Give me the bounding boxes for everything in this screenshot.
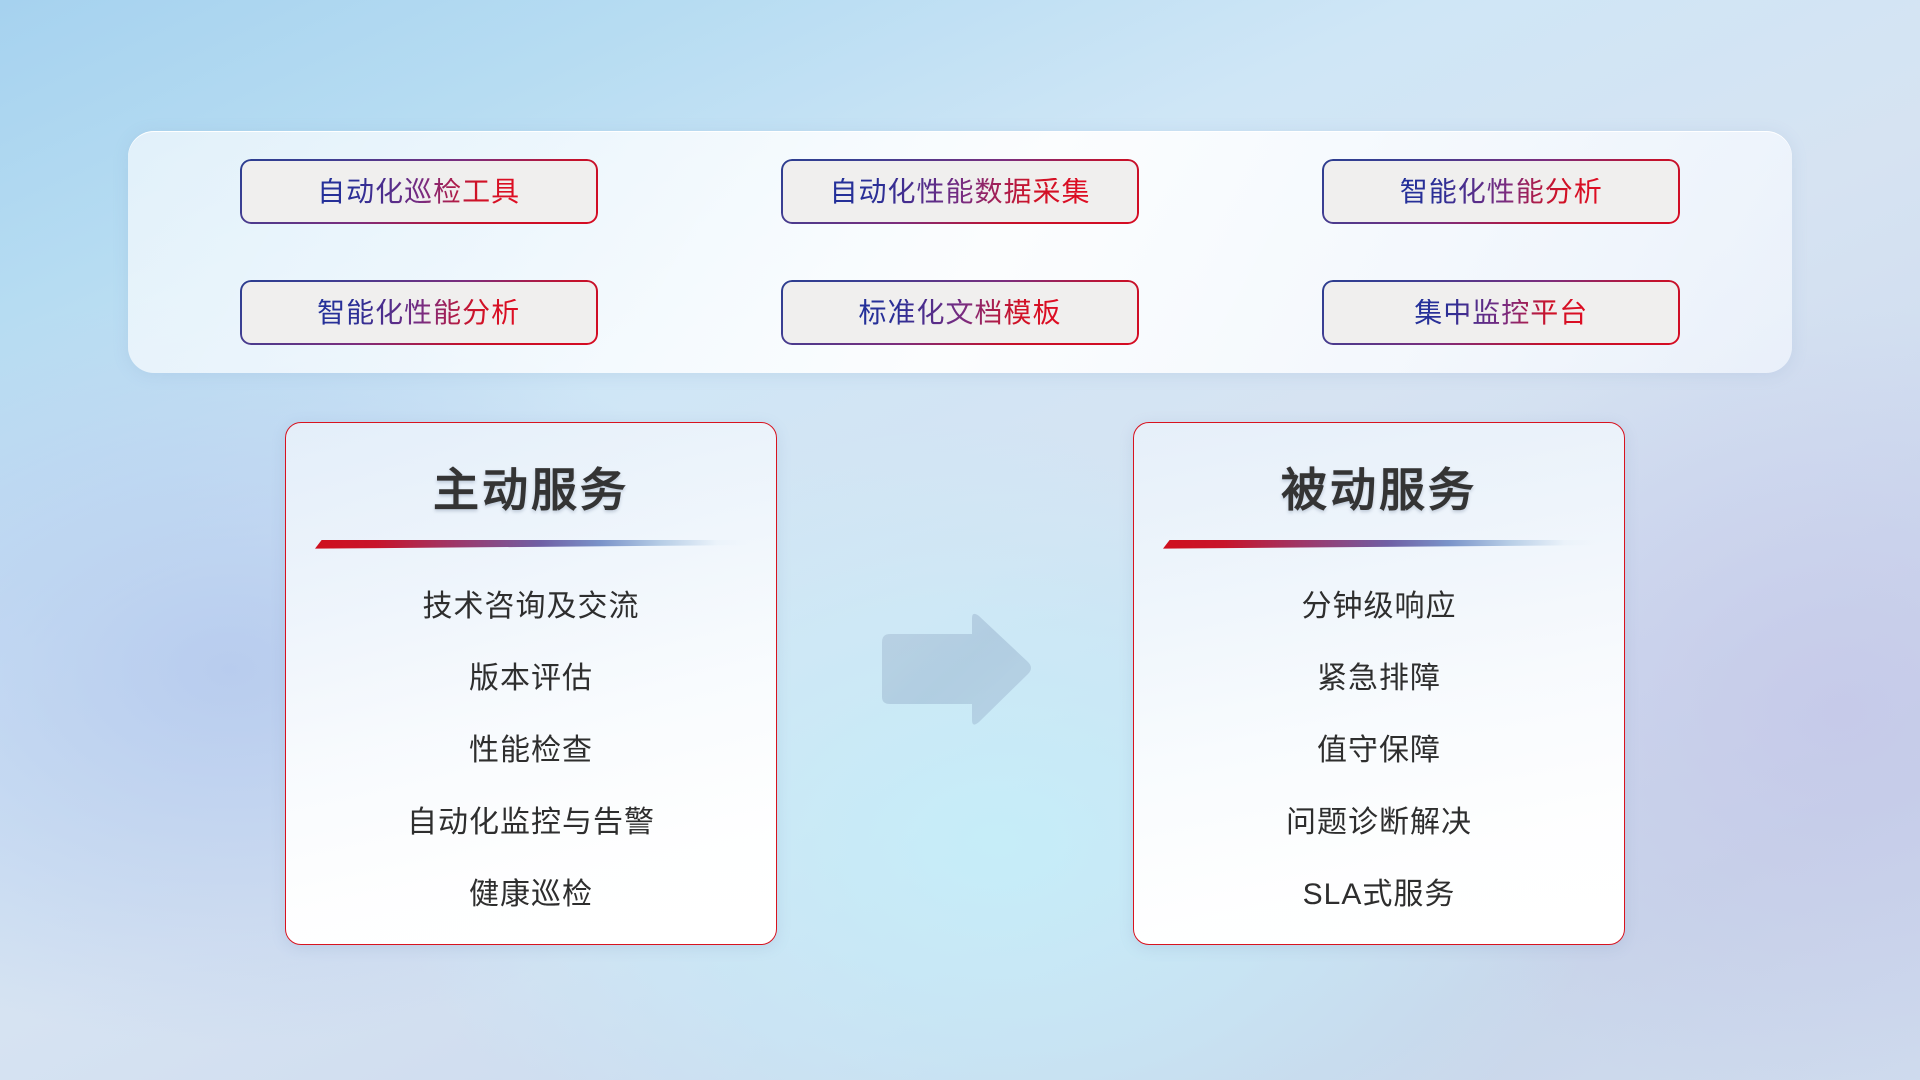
flow-arrow-right-icon [876, 611, 1034, 729]
service-card-proactive: 主动服务 技术咨询及交流 版本评估 性能检查 自动化监控与告警 健康巡检 [285, 422, 777, 945]
capability-pill[interactable]: 智能化性能分析 [240, 280, 598, 345]
title-divider-bar [315, 540, 747, 549]
service-list-item: 值守保障 [1134, 715, 1624, 787]
title-divider-bar [1163, 540, 1595, 549]
service-list-item: 技术咨询及交流 [286, 571, 776, 643]
slide-canvas: 自动化巡检工具 自动化性能数据采集 智能化性能分析 智能化性能分析 标准化文档模… [0, 0, 1920, 1080]
capability-pill-label: 自动化巡检工具 [317, 178, 520, 206]
service-list-item: 分钟级响应 [1134, 571, 1624, 643]
capability-pill[interactable]: 标准化文档模板 [781, 280, 1139, 345]
service-card-title: 主动服务 [286, 465, 776, 516]
capability-pill-label: 集中监控平台 [1414, 299, 1588, 327]
service-item-list: 分钟级响应 紧急排障 值守保障 问题诊断解决 SLA式服务 [1134, 571, 1624, 931]
service-list-item: 版本评估 [286, 643, 776, 715]
service-list-item: 健康巡检 [286, 859, 776, 931]
capability-pill-label: 智能化性能分析 [1400, 178, 1603, 206]
service-list-item: 自动化监控与告警 [286, 787, 776, 859]
service-list-item: SLA式服务 [1134, 859, 1624, 931]
service-card-title: 被动服务 [1134, 465, 1624, 516]
service-list-item: 性能检查 [286, 715, 776, 787]
service-card-reactive: 被动服务 分钟级响应 紧急排障 值守保障 问题诊断解决 SLA式服务 [1133, 422, 1625, 945]
service-list-item: 问题诊断解决 [1134, 787, 1624, 859]
capability-pill[interactable]: 集中监控平台 [1322, 280, 1680, 345]
service-item-list: 技术咨询及交流 版本评估 性能检查 自动化监控与告警 健康巡检 [286, 571, 776, 931]
capability-pill-label: 智能化性能分析 [317, 299, 520, 327]
service-list-item: 紧急排障 [1134, 643, 1624, 715]
capability-pill-label: 自动化性能数据采集 [829, 178, 1090, 206]
capability-pill[interactable]: 智能化性能分析 [1322, 159, 1680, 224]
capability-pill-label: 标准化文档模板 [858, 299, 1061, 327]
capability-pill[interactable]: 自动化性能数据采集 [781, 159, 1139, 224]
capability-pill[interactable]: 自动化巡检工具 [240, 159, 598, 224]
capability-panel: 自动化巡检工具 自动化性能数据采集 智能化性能分析 智能化性能分析 标准化文档模… [128, 131, 1792, 373]
